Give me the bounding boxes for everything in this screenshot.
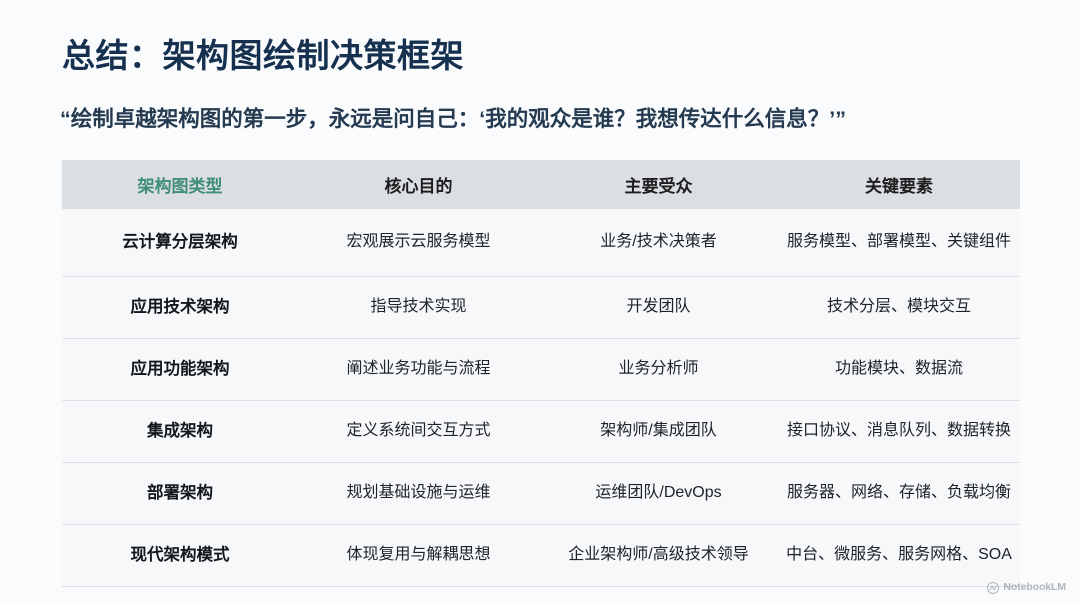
table-row: 云计算分层架构 宏观展示云服务模型 业务/技术决策者 服务模型、部署模型、关键组… — [62, 209, 1020, 277]
cell-audience: 企业架构师/高级技术领导 — [539, 525, 778, 587]
cell-elements: 技术分层、模块交互 — [778, 277, 1020, 339]
cell-type: 云计算分层架构 — [62, 209, 298, 277]
table-row: 应用功能架构 阐述业务功能与流程 业务分析师 功能模块、数据流 — [62, 339, 1020, 401]
table-row: 部署架构 规划基础设施与运维 运维团队/DevOps 服务器、网络、存储、负载均… — [62, 463, 1020, 525]
cell-type: 应用功能架构 — [62, 339, 298, 401]
slide-subtitle-quote: “绘制卓越架构图的第一步，永远是问自己：‘我的观众是谁？我想传达什么信息？’” — [60, 106, 846, 134]
architecture-table-container: 架构图类型 核心目的 主要受众 关键要素 云计算分层架构 宏观展示云服务模型 业… — [62, 160, 1020, 587]
notebooklm-logo-text: NotebookLM — [1003, 581, 1066, 593]
cell-elements: 服务模型、部署模型、关键组件 — [778, 209, 1020, 277]
cell-purpose: 阐述业务功能与流程 — [298, 339, 539, 401]
table-row: 集成架构 定义系统间交互方式 架构师/集成团队 接口协议、消息队列、数据转换 — [62, 401, 1020, 463]
architecture-decision-table: 架构图类型 核心目的 主要受众 关键要素 云计算分层架构 宏观展示云服务模型 业… — [62, 160, 1020, 587]
table-row: 应用技术架构 指导技术实现 开发团队 技术分层、模块交互 — [62, 277, 1020, 339]
cell-elements: 接口协议、消息队列、数据转换 — [778, 401, 1020, 463]
column-header-purpose: 核心目的 — [298, 160, 539, 209]
notebooklm-watermark: NotebookLM — [987, 581, 1066, 593]
notebooklm-logo-icon — [987, 581, 999, 593]
cell-audience: 业务/技术决策者 — [539, 209, 778, 277]
cell-elements: 功能模块、数据流 — [778, 339, 1020, 401]
table-body: 云计算分层架构 宏观展示云服务模型 业务/技术决策者 服务模型、部署模型、关键组… — [62, 209, 1020, 587]
cell-purpose: 体现复用与解耦思想 — [298, 525, 539, 587]
cell-audience: 架构师/集成团队 — [539, 401, 778, 463]
column-header-audience: 主要受众 — [539, 160, 778, 209]
table-row: 现代架构模式 体现复用与解耦思想 企业架构师/高级技术领导 中台、微服务、服务网… — [62, 525, 1020, 587]
table-header: 架构图类型 核心目的 主要受众 关键要素 — [62, 160, 1020, 209]
cell-elements: 中台、微服务、服务网格、SOA — [778, 525, 1020, 587]
cell-elements: 服务器、网络、存储、负载均衡 — [778, 463, 1020, 525]
column-header-type: 架构图类型 — [62, 160, 298, 209]
cell-audience: 运维团队/DevOps — [539, 463, 778, 525]
cell-purpose: 指导技术实现 — [298, 277, 539, 339]
page-title: 总结：架构图绘制决策框架 — [62, 36, 464, 76]
cell-type: 部署架构 — [62, 463, 298, 525]
cell-type: 现代架构模式 — [62, 525, 298, 587]
cell-audience: 业务分析师 — [539, 339, 778, 401]
cell-type: 应用技术架构 — [62, 277, 298, 339]
cell-purpose: 规划基础设施与运维 — [298, 463, 539, 525]
cell-type: 集成架构 — [62, 401, 298, 463]
cell-purpose: 宏观展示云服务模型 — [298, 209, 539, 277]
column-header-elements: 关键要素 — [778, 160, 1020, 209]
cell-purpose: 定义系统间交互方式 — [298, 401, 539, 463]
cell-audience: 开发团队 — [539, 277, 778, 339]
table-header-row: 架构图类型 核心目的 主要受众 关键要素 — [62, 160, 1020, 209]
slide-canvas: 总结：架构图绘制决策框架 “绘制卓越架构图的第一步，永远是问自己：‘我的观众是谁… — [0, 0, 1080, 602]
